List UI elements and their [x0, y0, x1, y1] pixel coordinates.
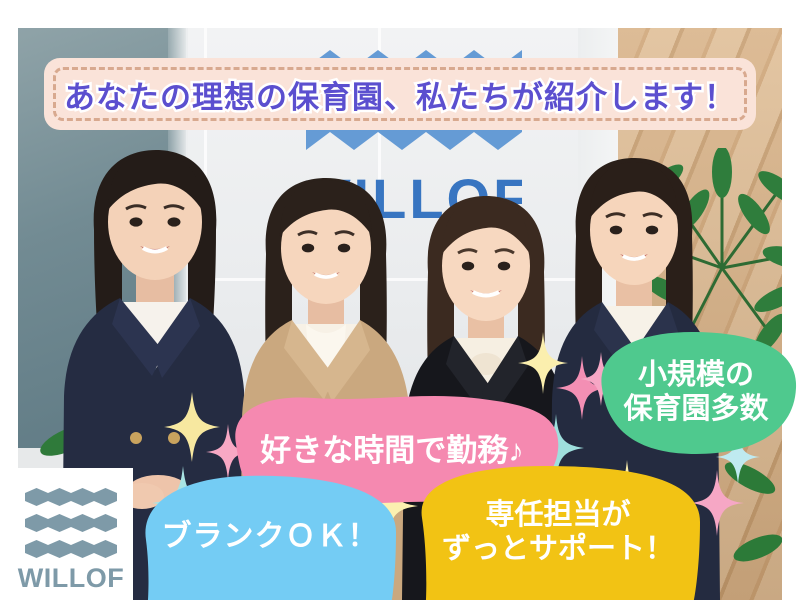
bubble-small-nurseries[interactable]: 小規模の 保育園多数: [592, 330, 800, 456]
promo-banner-image: WILLOF: [0, 0, 800, 600]
headline-banner: あなたの理想の保育園、私たちが紹介します！: [44, 58, 756, 130]
willof-logo-card: WILLOF: [9, 468, 133, 600]
zigzag-icon: [25, 540, 117, 558]
zigzag-icon: [25, 488, 117, 506]
headline-text: あなたの理想の保育園、私たちが紹介します！: [44, 58, 756, 130]
bubble-blank-ok[interactable]: ブランクＯＫ！: [140, 474, 400, 600]
bubble-dedicated-support[interactable]: 専任担当が ずっとサポート！: [412, 466, 704, 600]
willof-wordmark: WILLOF: [9, 563, 133, 594]
zigzag-icon: [25, 514, 117, 532]
